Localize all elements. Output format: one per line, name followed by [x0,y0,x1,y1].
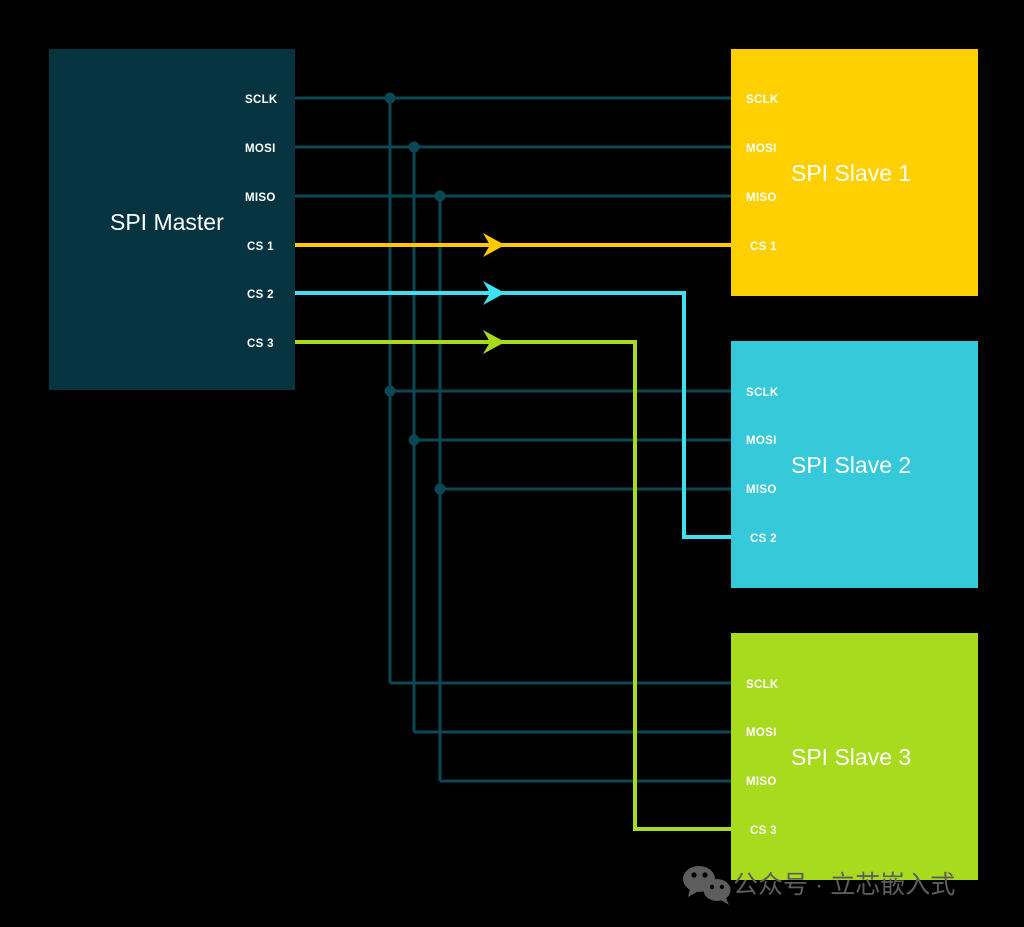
watermark: 公众号 · 立芯嵌入式 [683,866,955,905]
slave2-pin-mosi: MOSI [746,435,777,447]
junction-dot-miso-slave2 [435,484,446,495]
master-pin-sclk: SCLK [245,94,278,106]
junction-dot-miso [435,191,446,202]
slave1-pin-cs: CS 1 [750,241,777,253]
slave3-pin-miso: MISO [746,776,777,788]
master-pin-miso: MISO [245,192,276,204]
diagram-svg: SPI Master SCLK MOSI MISO CS 1 CS 2 CS 3… [0,0,1024,927]
slave2-pin-miso: MISO [746,484,777,496]
wechat-icon [683,866,731,905]
slave3-title: SPI Slave 3 [791,744,911,770]
master-pin-mosi: MOSI [245,143,276,155]
slave2-title: SPI Slave 2 [791,452,911,478]
spi-slave-3-block[interactable]: SPI Slave 3 SCLK MOSI MISO CS 3 [731,633,978,880]
slave1-title: SPI Slave 1 [791,160,911,186]
wire-cs3 [295,342,731,829]
slave1-pin-miso: MISO [746,192,777,204]
slave1-pin-sclk: SCLK [746,94,779,106]
slave3-pin-mosi: MOSI [746,727,777,739]
spi-bus-diagram: SPI Master SCLK MOSI MISO CS 1 CS 2 CS 3… [0,0,1024,927]
master-pin-cs2: CS 2 [247,289,274,301]
bus-wires [295,93,731,782]
spi-slave-1-block[interactable]: SPI Slave 1 SCLK MOSI MISO CS 1 [731,49,978,296]
slave2-pin-sclk: SCLK [746,387,779,399]
master-title: SPI Master [110,209,224,235]
junction-dot-sclk-slave2 [385,386,396,397]
wire-cs2 [295,293,731,537]
slave1-pin-mosi: MOSI [746,143,777,155]
slave2-pin-cs: CS 2 [750,533,777,545]
slave3-pin-cs: CS 3 [750,825,777,837]
junction-dot-sclk [385,93,396,104]
spi-slave-2-block[interactable]: SPI Slave 2 SCLK MOSI MISO CS 2 [731,341,978,588]
master-pin-cs3: CS 3 [247,338,274,350]
master-pin-cs1: CS 1 [247,241,274,253]
watermark-text: 公众号 · 立芯嵌入式 [733,871,955,899]
junction-dot-mosi-slave2 [409,435,420,446]
junction-dot-mosi [409,142,420,153]
spi-master-block[interactable]: SPI Master SCLK MOSI MISO CS 1 CS 2 CS 3 [49,49,295,390]
chip-select-wires [295,233,731,829]
slave3-pin-sclk: SCLK [746,679,779,691]
